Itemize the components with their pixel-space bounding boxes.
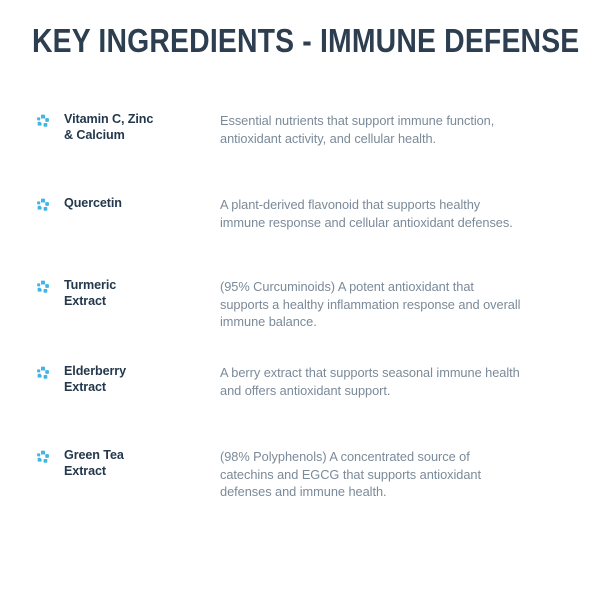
ingredient-description-line: A berry extract that supports seasonal i… <box>220 364 576 382</box>
ingredient-name-line: Extract <box>64 380 196 396</box>
ingredient-description-line: and offers antioxidant support. <box>220 382 576 400</box>
cluster-icon <box>36 278 60 294</box>
ingredient-name-line: Turmeric <box>64 278 196 294</box>
ingredient-description-line: immune balance. <box>220 313 576 331</box>
ingredient-description: Essential nutrients that support immune … <box>220 112 576 147</box>
ingredient-description-line: immune response and cellular antioxidant… <box>220 214 576 232</box>
page-title: KEY INGREDIENTS - IMMUNE DEFENSE <box>32 22 579 60</box>
cluster-icon <box>36 448 60 464</box>
ingredient-row: QuercetinA plant-derived flavonoid that … <box>0 196 600 231</box>
ingredient-description-line: supports a healthy inflammation response… <box>220 296 576 314</box>
ingredient-row: ElderberryExtractA berry extract that su… <box>0 364 600 399</box>
ingredient-name: ElderberryExtract <box>64 364 196 395</box>
ingredient-row: Vitamin C, Zinc& CalciumEssential nutrie… <box>0 112 600 147</box>
ingredient-name: Vitamin C, Zinc& Calcium <box>64 112 196 143</box>
cluster-icon <box>36 112 60 128</box>
ingredient-name-line: Extract <box>64 464 196 480</box>
ingredient-name-line: Elderberry <box>64 364 196 380</box>
ingredient-description-line: (98% Polyphenols) A concentrated source … <box>220 448 576 466</box>
ingredient-description-line: defenses and immune health. <box>220 483 576 501</box>
ingredient-description: A berry extract that supports seasonal i… <box>220 364 576 399</box>
ingredient-description: (98% Polyphenols) A concentrated source … <box>220 448 576 501</box>
ingredient-row: Green TeaExtract(98% Polyphenols) A conc… <box>0 448 600 501</box>
ingredient-name-line: & Calcium <box>64 128 196 144</box>
ingredient-name-line: Extract <box>64 294 196 310</box>
ingredient-name: TurmericExtract <box>64 278 196 309</box>
ingredients-panel: KEY INGREDIENTS - IMMUNE DEFENSE Vitamin… <box>0 0 600 600</box>
ingredient-description-line: Essential nutrients that support immune … <box>220 112 576 130</box>
ingredient-name-line: Vitamin C, Zinc <box>64 112 196 128</box>
ingredient-description: (95% Curcuminoids) A potent antioxidant … <box>220 278 576 331</box>
ingredient-description-line: A plant-derived flavonoid that supports … <box>220 196 576 214</box>
ingredient-description: A plant-derived flavonoid that supports … <box>220 196 576 231</box>
ingredient-description-line: catechins and EGCG that supports antioxi… <box>220 466 576 484</box>
cluster-icon <box>36 196 60 212</box>
ingredient-name: Quercetin <box>64 196 196 212</box>
ingredient-row: TurmericExtract(95% Curcuminoids) A pote… <box>0 278 600 331</box>
cluster-icon <box>36 364 60 380</box>
ingredient-name-line: Green Tea <box>64 448 196 464</box>
ingredient-description-line: (95% Curcuminoids) A potent antioxidant … <box>220 278 576 296</box>
ingredient-name: Green TeaExtract <box>64 448 196 479</box>
ingredient-description-line: antioxidant activity, and cellular healt… <box>220 130 576 148</box>
ingredient-name-line: Quercetin <box>64 196 196 212</box>
